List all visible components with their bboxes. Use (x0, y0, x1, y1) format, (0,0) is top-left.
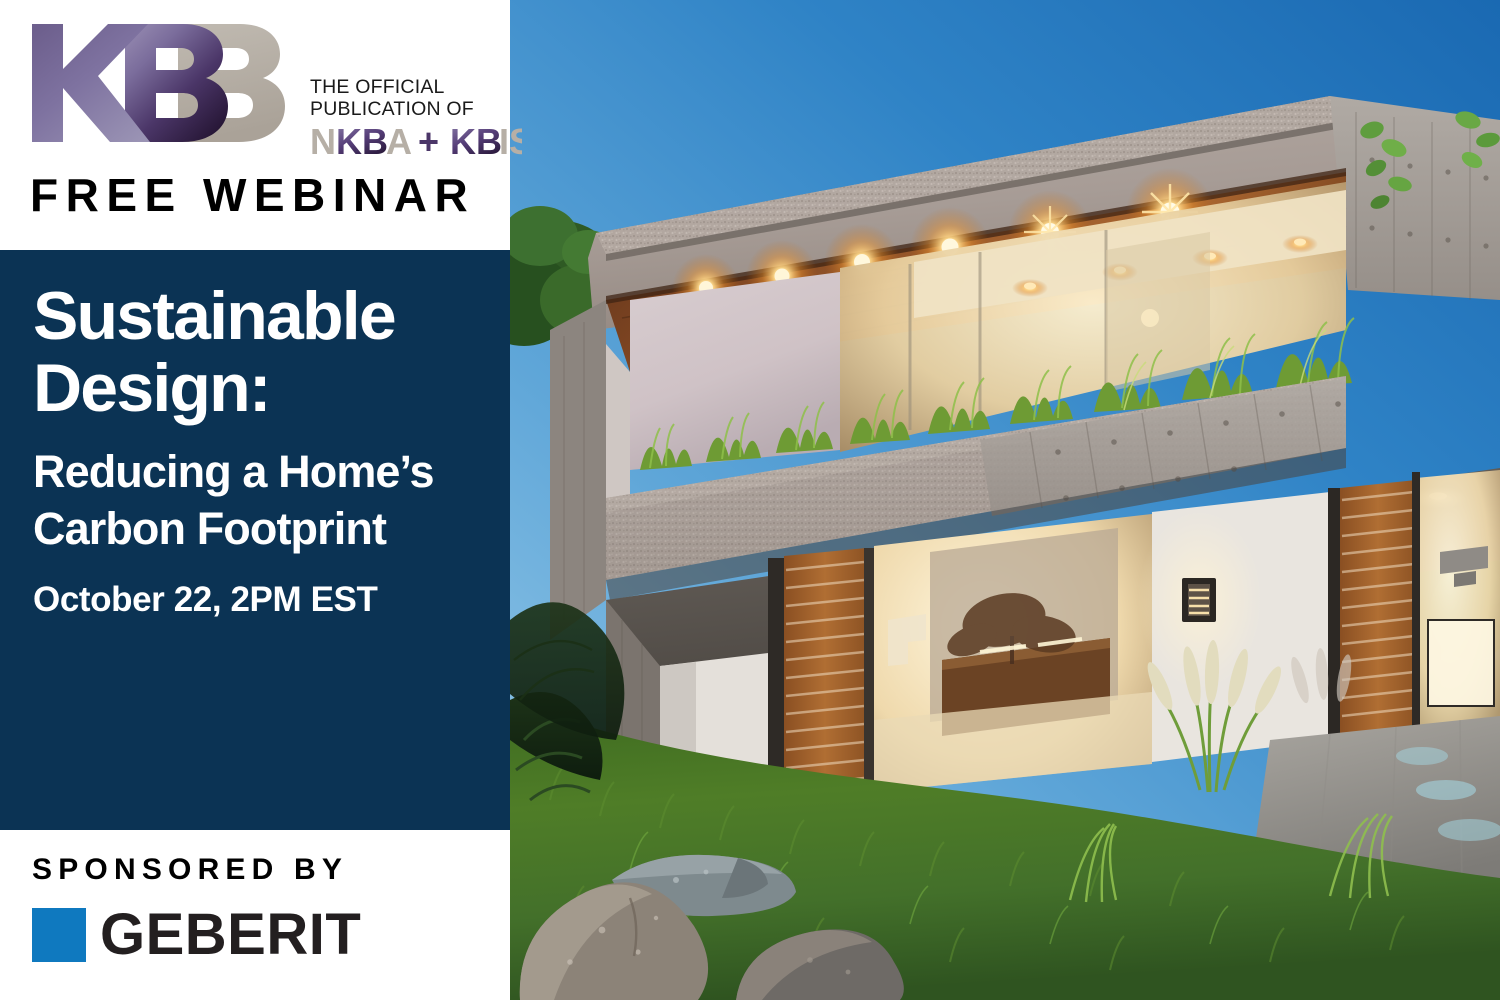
geberit-wordmark: GEBERIT (100, 908, 361, 962)
headline-panel: Sustainable Design: Reducing a Home’s Ca… (0, 250, 510, 830)
page-title: Sustainable Design: (33, 280, 493, 424)
sponsor-block: SPONSORED BY GEBERIT (0, 830, 510, 1000)
headline-line-1: Sustainable (33, 280, 493, 352)
svg-text:KB: KB (336, 121, 388, 160)
header-logo-block: THE OFFICIAL PUBLICATION OF N KB (0, 0, 510, 250)
kbb-wordmark-icon (28, 22, 286, 147)
svg-text:A: A (386, 121, 412, 160)
event-date-time: October 22, 2PM EST (33, 580, 377, 620)
house-photo (510, 0, 1500, 1000)
wall-sconce (1182, 578, 1216, 622)
wood-slat-door-left (768, 548, 874, 806)
webinar-promo-banner: THE OFFICIAL PUBLICATION OF N KB (0, 0, 1500, 1000)
headline-line-2: Design: (33, 352, 493, 424)
svg-text:N: N (310, 121, 336, 160)
left-content-column: THE OFFICIAL PUBLICATION OF N KB (0, 0, 510, 1000)
sponsored-by-label: SPONSORED BY (32, 853, 348, 887)
svg-text:IS: IS (499, 121, 522, 160)
subhead-line-2: Carbon Footprint (33, 500, 503, 557)
svg-text:+: + (418, 121, 439, 160)
subhead-line-1: Reducing a Home’s (33, 443, 503, 500)
kbb-logo-lockup: THE OFFICIAL PUBLICATION OF N KB (28, 22, 488, 152)
official-publication-text: THE OFFICIAL PUBLICATION OF (310, 76, 520, 120)
geberit-square-icon (32, 908, 86, 962)
svg-text:KB: KB (450, 121, 502, 160)
house-illustration-icon (510, 0, 1500, 1000)
free-webinar-kicker: FREE WEBINAR (30, 168, 475, 222)
page-subtitle: Reducing a Home’s Carbon Footprint (33, 443, 503, 557)
wood-slat-door-right (1328, 480, 1416, 742)
geberit-logo: GEBERIT (32, 908, 361, 962)
nkba-kbis-logo-icon: N KB A + KB IS (310, 120, 522, 160)
official-line-1: THE OFFICIAL (310, 76, 520, 98)
official-line-2: PUBLICATION OF (310, 98, 520, 120)
